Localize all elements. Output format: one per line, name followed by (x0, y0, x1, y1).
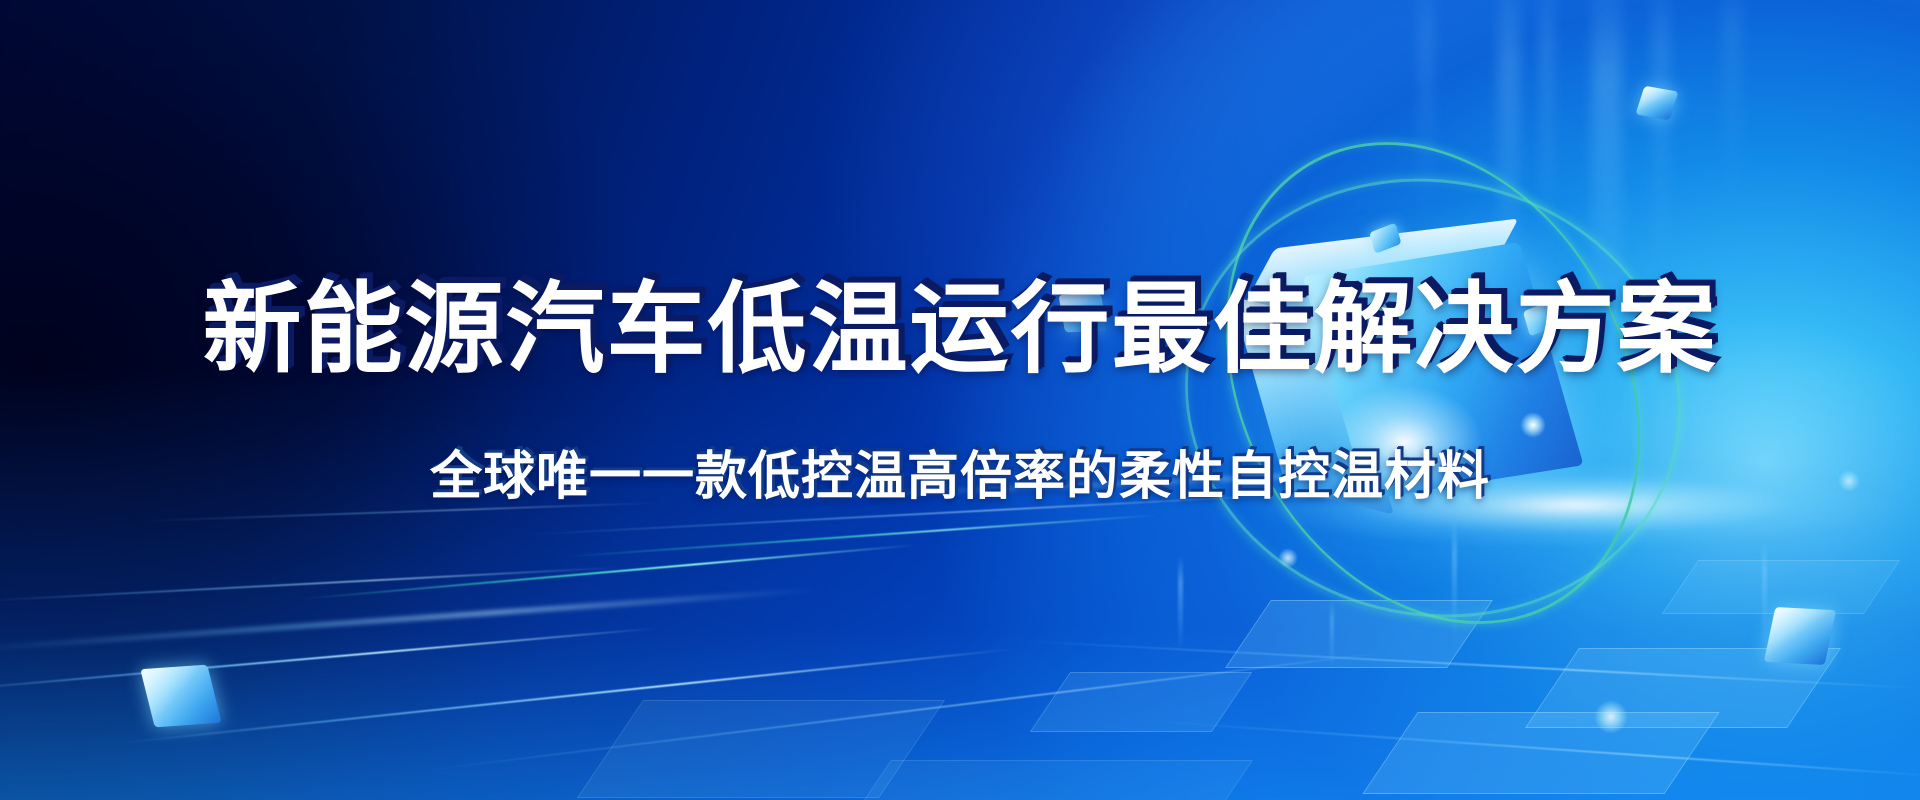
page-subtitle: 全球唯一一款低控温高倍率的柔性自控温材料 (0, 451, 1920, 503)
sparkle (1594, 700, 1628, 734)
light-streak-teal (560, 514, 1159, 558)
light-streak (1150, 720, 1920, 778)
light-streak (0, 627, 657, 692)
hero-banner: 新能源汽车低温运行最佳解决方案 全球唯一一款低控温高倍率的柔性自控温材料 (0, 0, 1920, 800)
chip-cube-bottom-left-icon (140, 665, 221, 728)
chip-cube-bottom-right-icon (1764, 607, 1836, 665)
sparkle (1278, 548, 1298, 568)
light-streak (0, 588, 818, 652)
page-title: 新能源汽车低温运行最佳解决方案 (0, 280, 1920, 379)
banner-text-block: 新能源汽车低温运行最佳解决方案 全球唯一一款低控温高倍率的柔性自控温材料 (0, 280, 1920, 503)
